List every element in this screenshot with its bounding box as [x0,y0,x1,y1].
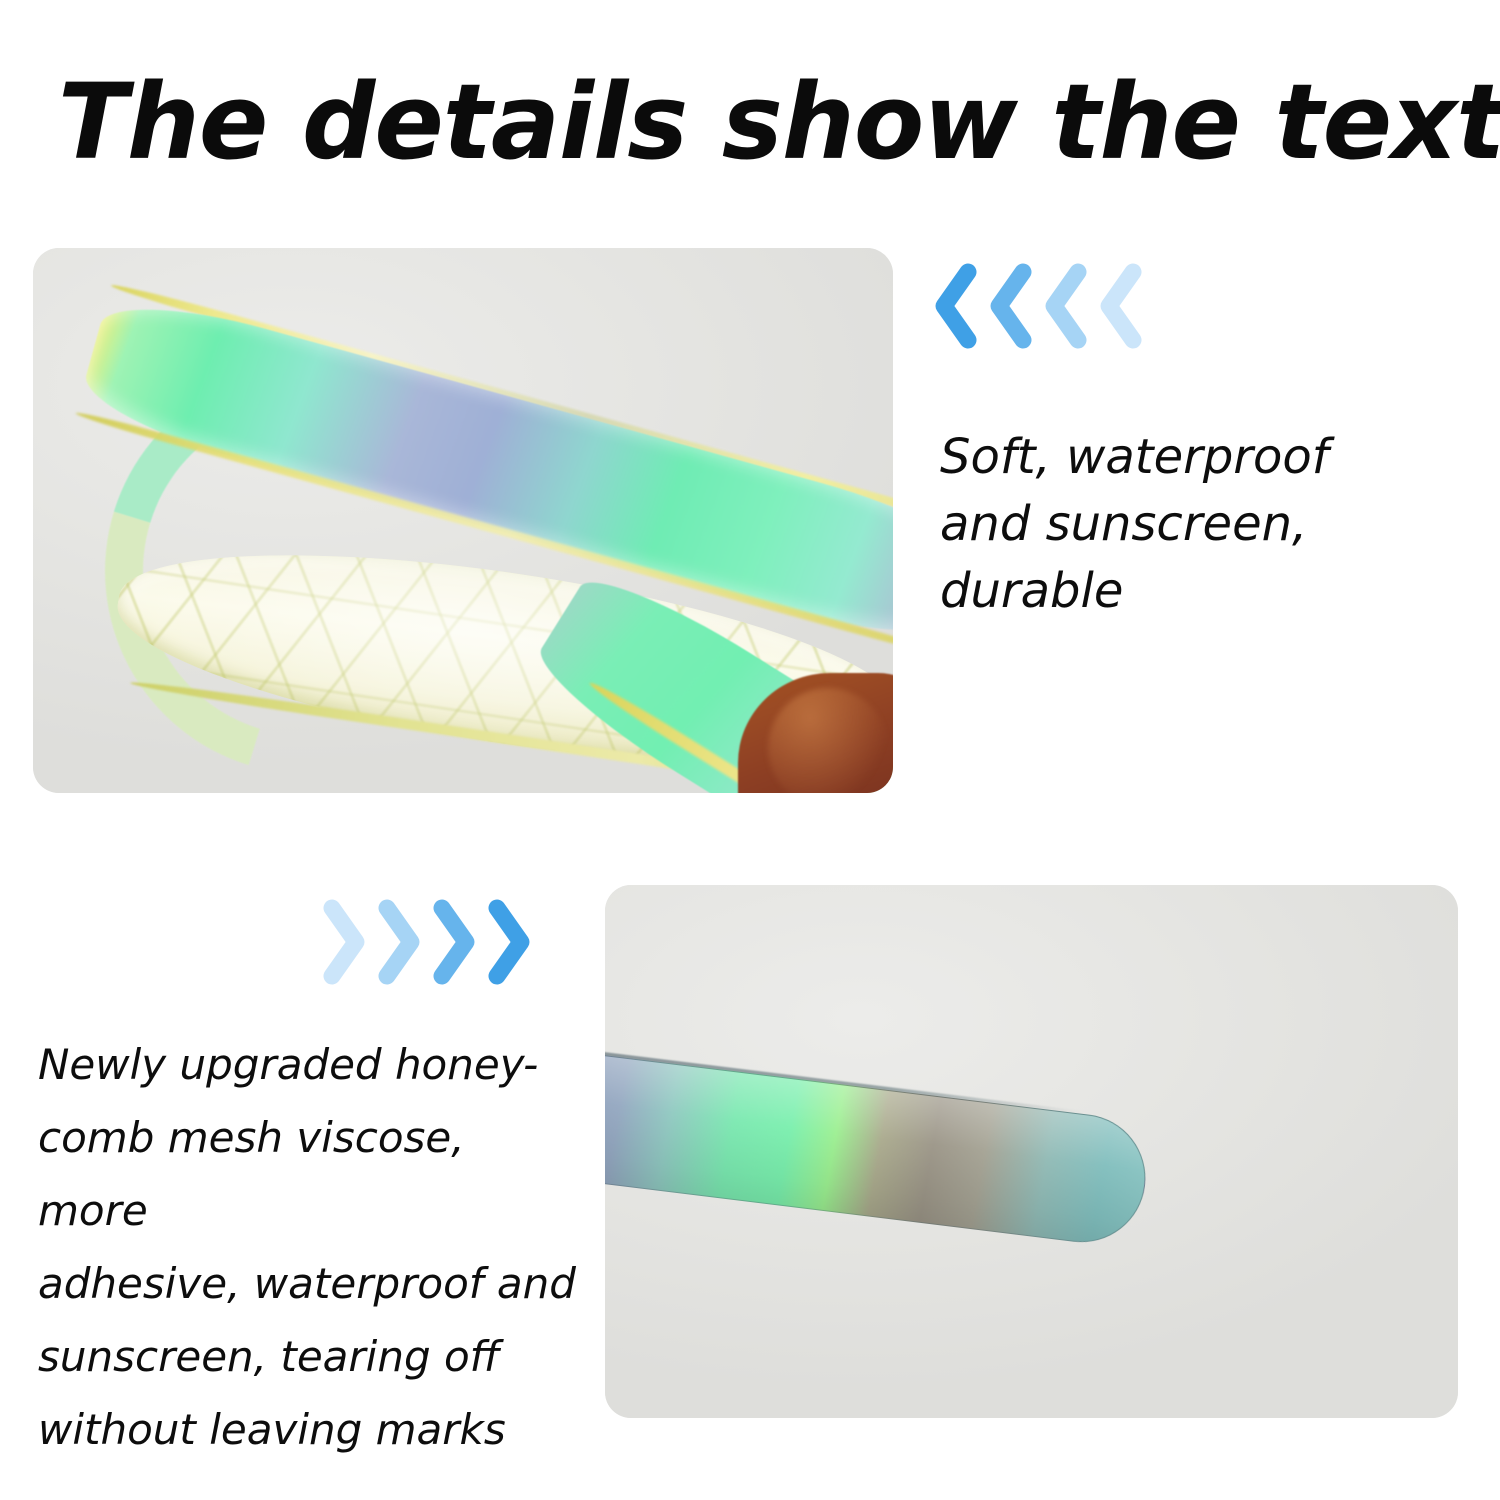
chevron-arrows-left [928,262,1148,350]
page-title: The details show the texture [58,62,1427,182]
top-feature-caption: Soft, waterproof and sunscreen, durable [940,424,1440,625]
chevron-left-icon [1093,262,1145,350]
single-tape-strip-photo [605,885,1458,1418]
caption-line: adhesive, waterproof and [38,1247,583,1320]
chevron-right-icon [373,898,425,986]
looped-iridescent-tape-photo [33,248,893,793]
caption-line: and sunscreen, [940,491,1440,558]
infographic-page: The details show the texture [0,0,1500,1500]
caption-line: Soft, waterproof [940,424,1440,491]
caption-line: without leaving marks [38,1393,583,1466]
caption-line: comb mesh viscose, more [38,1101,583,1247]
chevron-left-icon [983,262,1035,350]
caption-line: Newly upgraded honey- [38,1028,583,1101]
chevron-right-icon [483,898,535,986]
chevron-left-icon [1038,262,1090,350]
caption-line: sunscreen, tearing off [38,1320,583,1393]
chevron-left-icon [928,262,980,350]
bottom-feature-caption: Newly upgraded honey- comb mesh viscose,… [38,1028,583,1466]
chevron-arrows-right [318,898,538,986]
chevron-right-icon [318,898,370,986]
caption-line: durable [940,558,1440,625]
chevron-right-icon [428,898,480,986]
